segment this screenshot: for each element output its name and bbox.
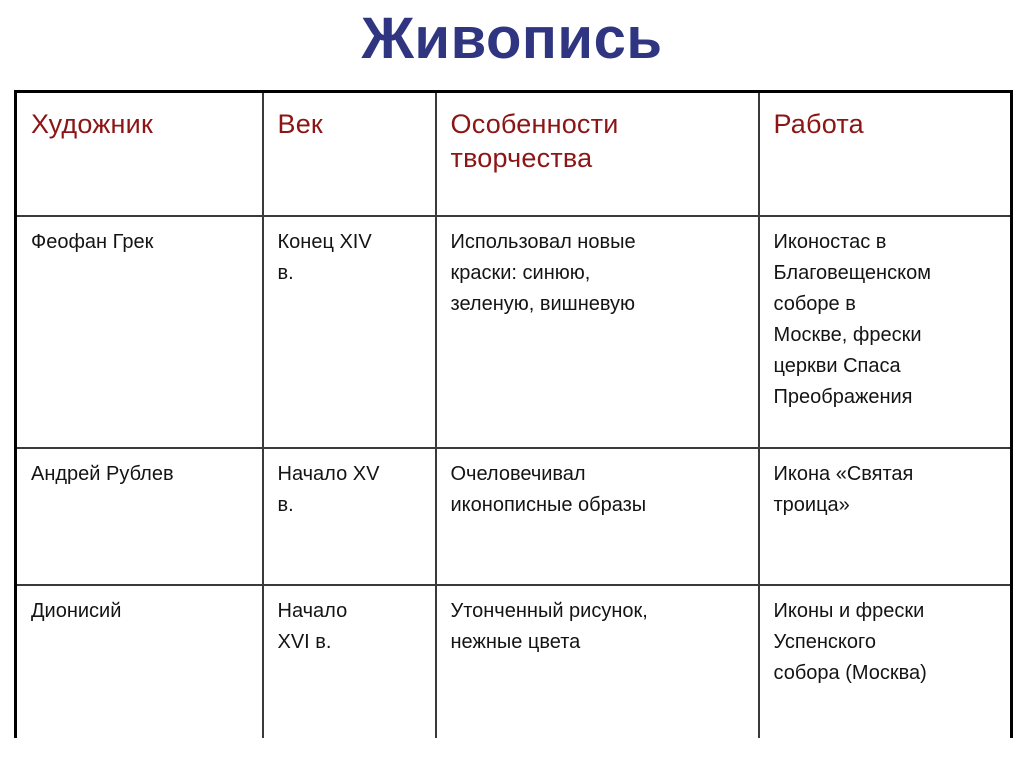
table-row: Дионисий Начало XVI в. Утонченный рисуно… <box>16 585 1012 738</box>
column-header-artist-label: Художник <box>31 107 250 141</box>
cell-work-text: Иконостас в Благовещенском соборе в Моск… <box>774 227 999 413</box>
cell-features-text: Очеловечивал иконописные образы <box>451 459 746 521</box>
cell-century: Начало XVI в. <box>263 585 436 738</box>
slide-canvas: Живопись Художник Век Особенности <box>0 0 1024 767</box>
column-header-artist: Художник <box>16 92 263 216</box>
cell-century: Начало XV в. <box>263 448 436 585</box>
painting-table-container: Художник Век Особенности творчества Рабо… <box>14 90 1010 736</box>
table-row: Феофан Грек Конец XIV в. Использовал нов… <box>16 216 1012 448</box>
cell-work: Иконы и фрески Успенского собора (Москва… <box>759 585 1012 738</box>
cell-work-text: Икона «Святая троица» <box>774 459 999 521</box>
column-header-century-label: Век <box>278 107 423 141</box>
column-header-work-label: Работа <box>774 107 999 141</box>
cell-features: Утонченный рисунок, нежные цвета <box>436 585 759 738</box>
painting-table: Художник Век Особенности творчества Рабо… <box>14 90 1013 738</box>
cell-artist-text: Дионисий <box>31 596 250 627</box>
cell-artist-text: Андрей Рублев <box>31 459 250 490</box>
table-row: Андрей Рублев Начало XV в. Очеловечивал … <box>16 448 1012 585</box>
page-title: Живопись <box>0 6 1024 72</box>
table-header-row: Художник Век Особенности творчества Рабо… <box>16 92 1012 216</box>
cell-century-text: Конец XIV в. <box>278 227 423 289</box>
cell-century-text: Начало XVI в. <box>278 596 423 658</box>
cell-features: Использовал новые краски: синюю, зеленую… <box>436 216 759 448</box>
column-header-features: Особенности творчества <box>436 92 759 216</box>
cell-artist: Андрей Рублев <box>16 448 263 585</box>
cell-century-text: Начало XV в. <box>278 459 423 521</box>
cell-features: Очеловечивал иконописные образы <box>436 448 759 585</box>
cell-artist: Дионисий <box>16 585 263 738</box>
cell-features-text: Утонченный рисунок, нежные цвета <box>451 596 746 658</box>
cell-artist: Феофан Грек <box>16 216 263 448</box>
cell-artist-text: Феофан Грек <box>31 227 250 258</box>
cell-work: Иконостас в Благовещенском соборе в Моск… <box>759 216 1012 448</box>
cell-work-text: Иконы и фрески Успенского собора (Москва… <box>774 596 999 689</box>
column-header-century: Век <box>263 92 436 216</box>
column-header-features-label: Особенности творчества <box>451 107 746 175</box>
cell-century: Конец XIV в. <box>263 216 436 448</box>
column-header-work: Работа <box>759 92 1012 216</box>
cell-work: Икона «Святая троица» <box>759 448 1012 585</box>
cell-features-text: Использовал новые краски: синюю, зеленую… <box>451 227 746 320</box>
